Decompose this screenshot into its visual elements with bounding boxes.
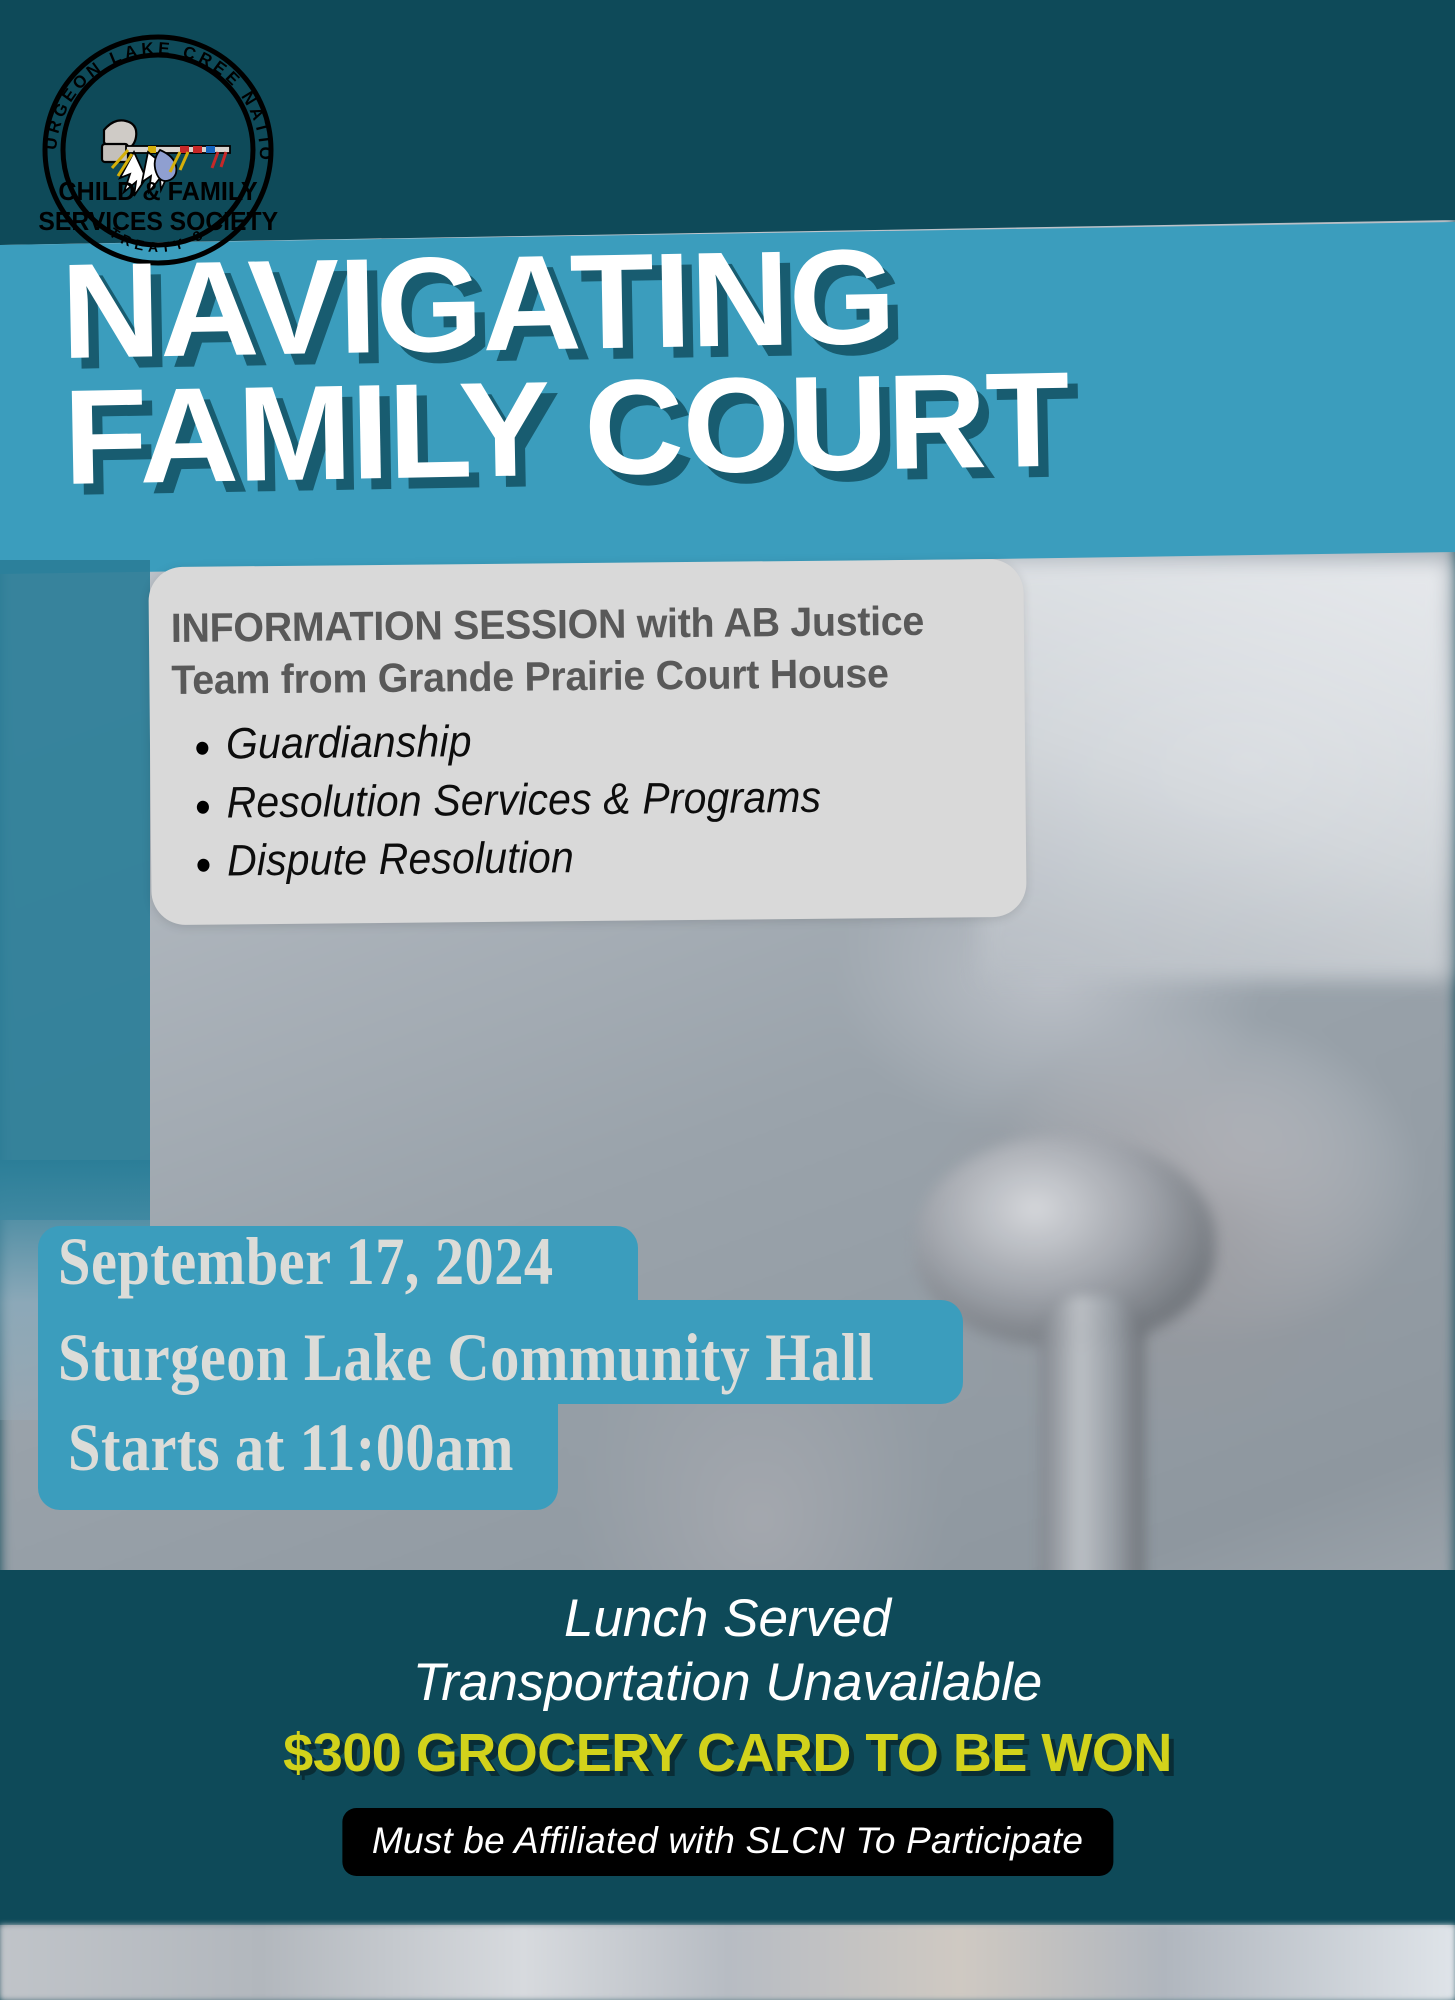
disclaimer-bar: Must be Affiliated with SLCN To Particip… <box>342 1808 1113 1876</box>
prize-announcement: $300 GROCERY CARD TO BE WON <box>0 1722 1455 1784</box>
svg-text:STURGEON LAKE CREE NATION: STURGEON LAKE CREE NATION <box>30 22 275 164</box>
bottom-photo-strip <box>0 1925 1455 2000</box>
event-venue: Sturgeon Lake Community Hall <box>58 1318 874 1397</box>
info-heading-line-1: INFORMATION SESSION with AB Justice <box>171 595 962 654</box>
list-item: Dispute Resolution <box>227 826 943 891</box>
left-accent-band <box>0 560 150 1220</box>
info-heading-line-2: Team from Grande Prairie Court House <box>171 647 962 706</box>
background-papers <box>980 560 1450 980</box>
transportation-note: Transportation Unavailable <box>0 1652 1455 1713</box>
event-date: September 17, 2024 <box>58 1222 554 1301</box>
information-session-card: INFORMATION SESSION with AB Justice Team… <box>148 559 1026 925</box>
lunch-note: Lunch Served <box>0 1588 1455 1649</box>
list-item: Guardianship <box>226 709 942 774</box>
svg-text:CHILD & FAMILY: CHILD & FAMILY <box>58 178 257 206</box>
title-line-2: FAMILY COURT <box>62 350 1455 500</box>
page-title: NAVIGATING FAMILY COURT <box>60 224 1455 500</box>
disclaimer-text: Must be Affiliated with SLCN To Particip… <box>372 1820 1083 1862</box>
list-item: Resolution Services & Programs <box>226 767 942 832</box>
poster-root: STURGEON LAKE CREE NATION TREATY 8 C <box>0 0 1455 2000</box>
topics-list: Guardianship Resolution Services & Progr… <box>172 708 997 891</box>
event-time: Starts at 11:00am <box>68 1408 514 1487</box>
